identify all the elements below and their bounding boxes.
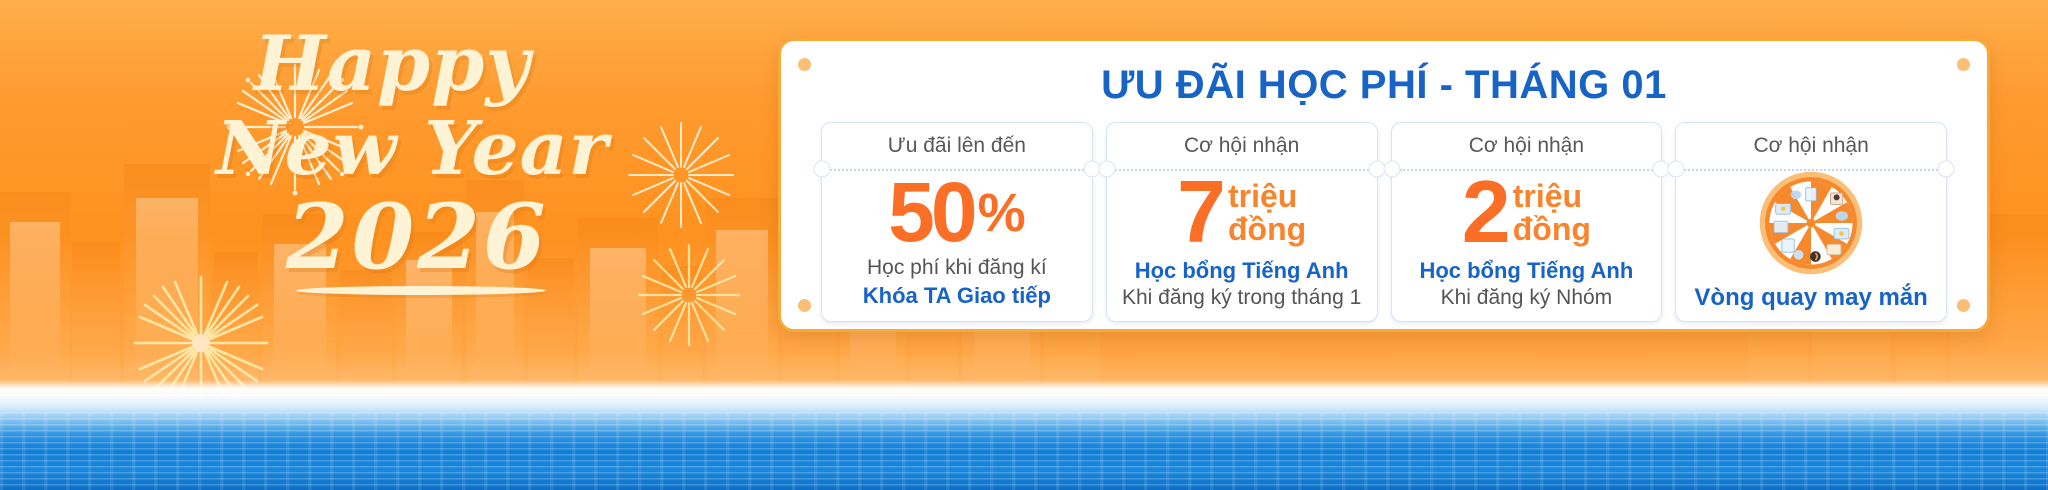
offer-value-row: 2 triệu đồng [1462, 172, 1591, 253]
offer-card-discount[interactable]: Ưu đãi lên đến 50 % Học phí khi đăng kí … [821, 122, 1093, 322]
offer-card-head: Cơ hội nhận [1107, 123, 1377, 169]
ticket-notch-left [1098, 161, 1115, 178]
offer-captions: Học bổng Tiếng Anh Khi đăng ký trong thá… [1122, 257, 1361, 311]
headline-underline-swash [296, 286, 546, 295]
offer-value: 7 [1177, 172, 1224, 253]
percent-sign: % [978, 182, 1026, 244]
offer-unit-line-2: đồng [1228, 211, 1306, 247]
lucky-wheel-label: Vòng quay may mắn [1694, 284, 1927, 312]
offer-caption-1: Học bổng Tiếng Anh [1419, 257, 1633, 285]
firework-burst-1 [220, 52, 370, 202]
offer-value-row: 50 % [888, 174, 1025, 251]
offer-unit-line-1: triệu [1513, 178, 1582, 214]
offer-card-scholarship-month[interactable]: Cơ hội nhận 7 triệu đồng Học bổng Tiếng … [1106, 122, 1378, 322]
lucky-wheel-icon [1758, 170, 1864, 276]
headline-line-2: New Year [216, 112, 720, 186]
offer-value: 50 [888, 174, 973, 251]
panel-title: ƯU ĐÃI HỌC PHÍ - THÁNG 01 [797, 63, 1971, 108]
offer-card-scholarship-group[interactable]: Cơ hội nhận 2 triệu đồng Học bổng Tiếng … [1391, 122, 1663, 322]
offer-card-head: Cơ hội nhận [1392, 123, 1662, 169]
promo-banner: Happy New Year 2026 ƯU ĐÃI HỌC PHÍ - THÁ… [0, 0, 2048, 490]
offer-value: 2 [1462, 172, 1509, 253]
ticket-dotted-separator [830, 169, 1084, 171]
panel-corner-dot-bottom-left [798, 299, 811, 312]
ticket-dotted-separator [1684, 169, 1938, 171]
ticket-notch-left [1668, 161, 1685, 178]
offer-card-body: 2 triệu đồng Học bổng Tiếng Anh Khi đăng… [1392, 169, 1662, 321]
ticket-notch-left [814, 161, 831, 178]
offer-caption-2: Khi đăng ký trong tháng 1 [1122, 285, 1361, 311]
panel-corner-dot-bottom-right [1957, 299, 1970, 312]
offer-card-lucky-wheel[interactable]: Cơ hội nhận [1675, 122, 1947, 322]
promo-panel: ƯU ĐÃI HỌC PHÍ - THÁNG 01 Ưu đãi lên đến… [778, 38, 1990, 332]
ticket-notch-right [1938, 161, 1955, 178]
headline-line-1: Happy [254, 26, 720, 102]
firework-burst-2 [618, 112, 744, 238]
headline-line-3: 2026 [286, 192, 720, 282]
offer-card-body: 7 triệu đồng Học bổng Tiếng Anh Khi đăng… [1107, 169, 1377, 321]
offer-captions: Học bổng Tiếng Anh Khi đăng ký Nhóm [1419, 257, 1633, 311]
offer-card-head: Cơ hội nhận [1676, 123, 1946, 168]
offer-card-body: Vòng quay may mắn [1676, 168, 1946, 321]
new-year-headline: Happy New Year 2026 [200, 26, 720, 326]
lucky-wheel-block: Vòng quay may mắn [1694, 170, 1927, 312]
offer-unit-line-2: đồng [1513, 211, 1591, 247]
offer-caption-1: Học bổng Tiếng Anh [1122, 257, 1361, 285]
offer-captions: Học phí khi đăng kí Khóa TA Giao tiếp [863, 255, 1051, 309]
ticket-notch-left [1383, 161, 1400, 178]
offer-unit-line-1: triệu [1228, 178, 1297, 214]
offer-card-list: Ưu đãi lên đến 50 % Học phí khi đăng kí … [797, 122, 1971, 322]
offer-unit: triệu đồng [1513, 180, 1591, 245]
offer-caption-2: Khóa TA Giao tiếp [863, 282, 1051, 310]
water-reflection-band [0, 394, 2048, 490]
offer-card-head: Ưu đãi lên đến [822, 123, 1092, 169]
offer-caption-2: Khi đăng ký Nhóm [1419, 285, 1633, 311]
offer-value-row: 7 triệu đồng [1177, 172, 1306, 253]
offer-caption-1: Học phí khi đăng kí [863, 255, 1051, 281]
panel-corner-dot-top-left [798, 58, 811, 71]
offer-unit: triệu đồng [1228, 180, 1306, 245]
panel-corner-dot-top-right [1957, 58, 1970, 71]
firework-burst-4 [630, 236, 748, 354]
ticket-dotted-separator [1400, 169, 1654, 171]
offer-card-body: 50 % Học phí khi đăng kí Khóa TA Giao ti… [822, 169, 1092, 321]
ticket-dotted-separator [1115, 169, 1369, 171]
